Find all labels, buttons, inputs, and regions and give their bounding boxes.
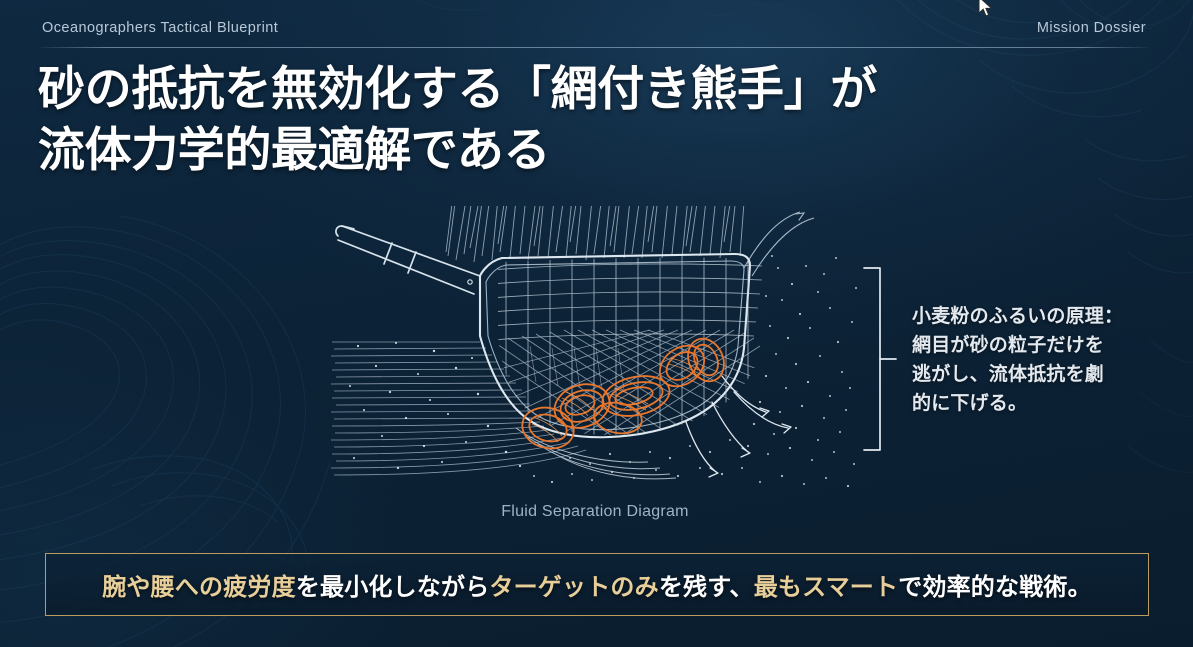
mesh-rake-fluid-separation-illustration <box>330 196 860 516</box>
summary-banner-segment-4: 最もスマート <box>754 574 898 601</box>
title-line-2: 流体力学的最適解である <box>38 119 1038 180</box>
slide-header: Oceanographers Tactical Blueprint Missio… <box>40 20 1148 48</box>
header-kicker-left: Oceanographers Tactical Blueprint <box>42 20 278 36</box>
callout-annotation: 小麦粉のふるいの原理： 網目が砂の粒子だけを 逃がし、流体抵抗を劇 的に下げる。 <box>912 303 1144 419</box>
callout-line-3: 逃がし、流体抵抗を劇 <box>912 361 1144 390</box>
page-title: 砂の抵抗を無効化する「網付き熊手」が 流体力学的最適解である <box>38 58 1038 180</box>
callout-bracket-icon <box>862 266 898 452</box>
slide-canvas: Oceanographers Tactical Blueprint Missio… <box>0 0 1193 647</box>
diagram-stage <box>330 196 860 516</box>
summary-banner-segment-0: 腕や腰への疲労度 <box>102 574 296 601</box>
summary-banner: 腕や腰への疲労度を最小化しながらターゲットのみを残す、最もスマートで効率的な戦術… <box>45 553 1149 616</box>
callout-line-1: 小麦粉のふるいの原理： <box>912 303 1144 332</box>
summary-banner-segment-3: を残す、 <box>659 574 754 601</box>
summary-banner-segment-5: で効率的な戦術。 <box>898 574 1092 601</box>
callout-line-4: 的に下げる。 <box>912 390 1144 419</box>
header-divider <box>40 47 1148 48</box>
summary-banner-text: 腕や腰への疲労度を最小化しながらターゲットのみを残す、最もスマートで効率的な戦術… <box>102 567 1092 602</box>
summary-banner-segment-2: ターゲットのみ <box>489 574 658 601</box>
mouse-pointer-icon <box>978 0 994 20</box>
diagram-caption: Fluid Separation Diagram <box>330 503 860 521</box>
summary-banner-segment-1: を最小化しながら <box>296 574 490 601</box>
title-line-1: 砂の抵抗を無効化する「網付き熊手」が <box>38 58 1038 119</box>
callout-line-2: 網目が砂の粒子だけを <box>912 332 1144 361</box>
header-kicker-right: Mission Dossier <box>1037 20 1146 36</box>
